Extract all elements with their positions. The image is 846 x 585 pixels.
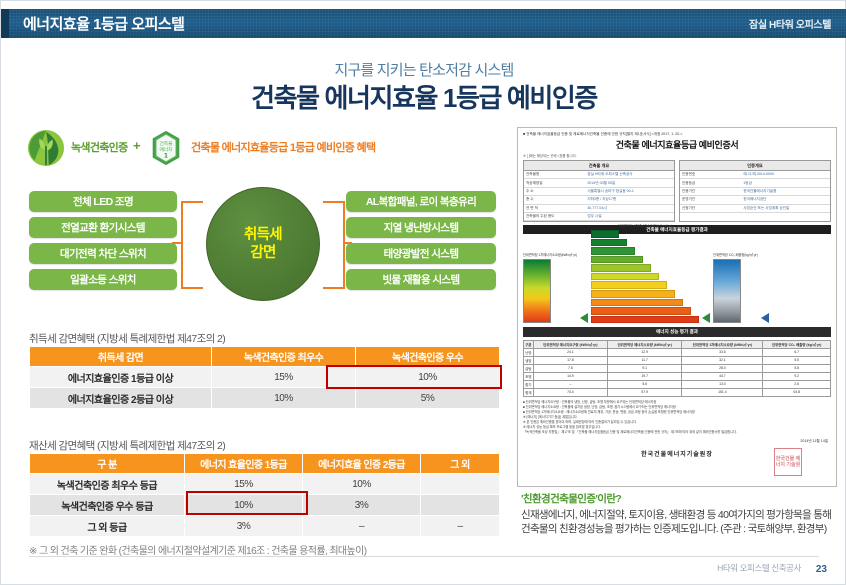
benefit-left-2: 전열교환 환기시스템 xyxy=(29,217,177,238)
cert-performance-band: 에너지 성능 평가 결과 xyxy=(523,327,831,336)
cert-c1-v: 1등급 xyxy=(743,181,828,186)
circle-line-1: 취득세 xyxy=(244,226,282,244)
table1-caption: 취득세 감면혜택 (지방세 특례제한법 제47조의 2) xyxy=(29,331,225,346)
list-item: 운영기관한국에너지공단 xyxy=(680,196,830,204)
cert-r5c1: 74.4 xyxy=(533,388,607,396)
table2-col-2: 에너지효율 인증 2등급 xyxy=(303,454,421,474)
table1-r0-c1: 15% xyxy=(212,367,356,388)
cert-r3c2: 19.7 xyxy=(608,372,682,380)
cert-data-table: 구분 단위면적당 에너지요구량 (kWh/㎡·yr) 단위면적당 에너지소요량 … xyxy=(523,340,831,397)
table2-r2-c3: – xyxy=(421,516,500,537)
table-row: 조명14.919.744.79.2 xyxy=(524,372,831,380)
table1-col-0: 취득세 감면 xyxy=(30,347,212,367)
cert-th-2: 단위면적당 에너지소요량 (kWh/㎡·yr) xyxy=(608,340,682,348)
table2-r0-c1: 15% xyxy=(185,474,303,495)
cert-top-note: ■ 건축물 에너지효율등급 인증 및 제로에너지건축물 인증에 관한 규칙[별지… xyxy=(523,132,831,137)
cert-b4-k: 연 면 적 xyxy=(526,206,587,211)
cert-building-heading: 건축물 개요 xyxy=(524,161,674,171)
cert-r0c1: 24.1 xyxy=(533,348,607,356)
cert-r2c1: 7.6 xyxy=(533,364,607,372)
slide-root: 에너지효율 1등급 오피스텔 잠실 H타워 오피스텔 지구를 지키는 탄소저감 … xyxy=(0,0,846,585)
benefit-right-2: 지열 냉난방시스템 xyxy=(346,217,496,238)
cert-b1-v: 2014년 00월 00일 xyxy=(587,181,672,186)
cert-b3-v: 지하3층 / 지상17층 xyxy=(587,197,672,202)
gauge-1-pointer-icon xyxy=(580,313,588,323)
list-item: 건축물명잠실 H타워 오피스텔 신축공사 xyxy=(524,171,674,179)
cert-c1-k: 인증등급 xyxy=(682,181,743,186)
table-row: 급탕7.69.128.05.8 xyxy=(524,364,831,372)
cert-r0c3: 33.6 xyxy=(682,348,763,356)
cert-r4c1: – xyxy=(533,380,607,388)
table2-r2-c2: – xyxy=(303,516,421,537)
table1-r1-c2: 5% xyxy=(356,388,500,409)
cert-c4-k: 신청기관 xyxy=(682,206,743,211)
list-item: 인증등급1등급 xyxy=(680,179,830,187)
table1-col-2: 녹색건축인증 우수 xyxy=(356,347,500,367)
cert-r1c0: 냉방 xyxy=(524,356,534,364)
benefit-right-3: 태양광발전 시스템 xyxy=(346,243,496,264)
cert-r4c4: 2.6 xyxy=(763,380,831,388)
cert-r5c2: 57.9 xyxy=(608,388,682,396)
cert-b4-v: 40,777.04㎡ xyxy=(587,206,672,211)
list-item: 연 면 적40,777.04㎡ xyxy=(524,205,674,213)
table-row: 그 외 등급 3% – – xyxy=(30,516,500,537)
benefit-right-4: 빗물 재활용 시스템 xyxy=(346,269,496,290)
gauge-3-caption: 단위면적당 CO₂ 배출량(kg/㎡·yr) xyxy=(713,253,758,257)
cert-c3-v: 한국에너지공단 xyxy=(743,197,828,202)
gauge-3-bar xyxy=(713,259,741,323)
table2-header-row: 구 분 에너지 효율인증 1등급 에너지효율 인증 2등급 그 외 xyxy=(30,454,500,474)
cert-certification-panel: 인증개요 인증번호예-사-예-2014-0000 인증등급1등급 인증기관한국건… xyxy=(679,160,831,222)
cert-b3-k: 층 수 xyxy=(526,197,587,202)
table1-r1-c1: 10% xyxy=(212,388,356,409)
green-leaf-circle-icon xyxy=(27,129,65,167)
table2-r2-c1: 3% xyxy=(185,516,303,537)
table1-r0-c2: 10% xyxy=(356,367,500,388)
list-item: 층 수지하3층 / 지상17층 xyxy=(524,196,674,204)
cert-c4-v: 사업승인 또는 사업계획 승인일 xyxy=(743,206,828,211)
cert-b2-v: 서울특별시 송파구 잠실동 00-1 xyxy=(587,189,672,194)
table-row: 녹색건축인증 우수 등급 10% 3% xyxy=(30,495,500,516)
cert-r4c2: 5.6 xyxy=(608,380,682,388)
table2-col-0: 구 분 xyxy=(30,454,185,474)
cert-r5c3: 151.4 xyxy=(682,388,763,396)
header-left-accent xyxy=(1,9,9,38)
cert-r5c4: 04.8 xyxy=(763,388,831,396)
list-item: 주 소서울특별시 송파구 잠실동 00-1 xyxy=(524,188,674,196)
acquisition-tax-circle: 취득세 감면 xyxy=(206,187,320,301)
official-seal-icon: 한국건물 에너지 기술원 xyxy=(774,448,802,476)
gauge-1-bar xyxy=(523,259,551,323)
table2-caption: 재산세 감면혜택 (지방세 특례제한법 제47조의 2) xyxy=(29,438,225,453)
gauge-1: 단위면적당 1차에너지소요량(kWh/㎡·yr) xyxy=(523,253,577,323)
cert-cert-heading: 인증개요 xyxy=(680,161,830,171)
acquisition-tax-table: 취득세 감면 녹색건축인증 최우수 녹색건축인증 우수 에너지효율인증 1등급 … xyxy=(29,346,500,409)
benefit-left-3: 대기전력 차단 스위치 xyxy=(29,243,177,264)
cert-b5-k: 건축물의 주된 용도 xyxy=(526,214,587,219)
cert-b2-k: 주 소 xyxy=(526,189,587,194)
gauge-2-pyramid xyxy=(591,230,699,324)
table2-r1-c0: 녹색건축인증 우수 등급 xyxy=(30,495,185,516)
cert-c3-k: 운영기관 xyxy=(682,197,743,202)
table2-r0-c0: 녹색건축인증 최우수 등급 xyxy=(30,474,185,495)
cert-r3c1: 14.9 xyxy=(533,372,607,380)
cert-r2c2: 9.1 xyxy=(608,364,682,372)
table2-col-1: 에너지 효율인증 1등급 xyxy=(185,454,303,474)
table2-r1-c2: 3% xyxy=(303,495,421,516)
table-row: 냉방17.811.732.15.5 xyxy=(524,356,831,364)
bracket-left-tick xyxy=(172,242,181,244)
table1-col-1: 녹색건축인증 최우수 xyxy=(212,347,356,367)
cert-th-0: 구분 xyxy=(524,340,534,348)
table1-header-row: 취득세 감면 녹색건축인증 최우수 녹색건축인증 우수 xyxy=(30,347,500,367)
property-tax-table: 구 분 에너지 효율인증 1등급 에너지효율 인증 2등급 그 외 녹색건축인증… xyxy=(29,453,500,537)
table1-r0-c0: 에너지효율인증 1등급 이상 xyxy=(30,367,212,388)
footer-divider xyxy=(29,556,819,557)
cert-th-1: 단위면적당 에너지요구량 (kWh/㎡·yr) xyxy=(533,340,607,348)
table-row: 합계74.457.9151.404.8 xyxy=(524,388,831,396)
gauge-2: 단위면적당 1차에너지소요량(kWh/㎡·yr) xyxy=(591,224,699,324)
cert-c0-k: 인증번호 xyxy=(682,172,743,177)
energy-grade-benefit-label: 건축물 에너지효율등급 1등급 예비인증 혜택 xyxy=(191,139,375,155)
cert-th-3: 단위면적당 1차에너지소요량 (kWh/㎡·yr) xyxy=(682,340,763,348)
slide-subtitle: 지구를 지키는 탄소저감 시스템 xyxy=(1,59,846,80)
table2-r2-c0: 그 외 등급 xyxy=(30,516,185,537)
benefit-left-4: 일괄소등 스위치 xyxy=(29,269,177,290)
benefit-right-1: AL복합패널, 로이 복층유리 xyxy=(346,191,496,212)
cert-building-panel: 건축물 개요 건축물명잠실 H타워 오피스텔 신축공사 착공예정일2014년 0… xyxy=(523,160,675,222)
slide-main-title: 건축물 에너지효율 1등급 예비인증 xyxy=(1,78,846,115)
cert-table-header-row: 구분 단위면적당 에너지요구량 (kWh/㎡·yr) 단위면적당 에너지소요량 … xyxy=(524,340,831,348)
header-project-label: 잠실 H타워 오피스텔 xyxy=(749,16,831,31)
plus-sign: + xyxy=(133,138,141,153)
cert-title: 건축물 에너지효율등급 예비인증서 xyxy=(518,138,836,151)
benefit-left-1: 전체 LED 조명 xyxy=(29,191,177,212)
green-building-cert-label: 녹색건축인증 xyxy=(71,139,128,155)
cert-r0c0: 난방 xyxy=(524,348,534,356)
certification-logo-row: 녹색건축인증 + 건축물 에너지 1 건축물 에너지효율등급 1등급 예비인증 … xyxy=(27,127,447,169)
cert-r4c3: 13.0 xyxy=(682,380,763,388)
footnote-text: ※ 그 외 건축 기준 완화 (건축물의 에너지절약설계기준 제16조 : 건축… xyxy=(29,542,366,557)
green-building-explainer: '친환경건축물인증'이란? 신재생에너지, 에너지절약, 토지이용, 생태환경 … xyxy=(521,491,841,536)
footer-project-name: H타워 오피스텔 신축공사 xyxy=(717,562,801,574)
cert-sub-note: ※ [ ]에는 해당되는 곳에 √표를 합니다. xyxy=(523,153,831,158)
cert-r1c4: 5.5 xyxy=(763,356,831,364)
cert-b0-k: 건축물명 xyxy=(526,172,587,177)
cert-r0c2: 12.9 xyxy=(608,348,682,356)
cert-r3c4: 9.2 xyxy=(763,372,831,380)
cert-c2-v: 한국건물에너지기술원 xyxy=(743,189,828,194)
table2-r1-c3 xyxy=(421,495,500,516)
explainer-body: 신재생에너지, 에너지절약, 토지이용, 생태환경 등 40여가지의 평가항목을… xyxy=(521,508,841,536)
page-number: 23 xyxy=(816,564,827,575)
energy-certificate-document: ■ 건축물 에너지효율등급 인증 및 제로에너지건축물 인증에 관한 규칙[별지… xyxy=(517,127,837,487)
cert-r3c0: 조명 xyxy=(524,372,534,380)
bracket-right-tick xyxy=(343,242,352,244)
cert-th-4: 단위면적당 CO₂ 배출량 (kg/㎡·yr) xyxy=(763,340,831,348)
energy-grade-badge-icon: 건축물 에너지 1 xyxy=(147,129,185,167)
list-item: 신청기관사업승인 또는 사업계획 승인일 xyxy=(680,205,830,213)
list-item: 인증기관한국건물에너지기술원 xyxy=(680,188,830,196)
cert-r4c0: 환기 xyxy=(524,380,534,388)
table-row: 에너지효율인증 2등급 이상 10% 5% xyxy=(30,388,500,409)
table-row: 에너지효율인증 1등급 이상 15% 10% xyxy=(30,367,500,388)
cert-r1c2: 11.7 xyxy=(608,356,682,364)
cert-r1c3: 32.1 xyxy=(682,356,763,364)
cert-info-columns: 건축물 개요 건축물명잠실 H타워 오피스텔 신축공사 착공예정일2014년 0… xyxy=(523,160,831,222)
bracket-right xyxy=(323,201,345,289)
cert-c2-k: 인증기관 xyxy=(682,189,743,194)
cert-r2c3: 28.0 xyxy=(682,364,763,372)
table2-r1-c1: 10% xyxy=(185,495,303,516)
svg-text:1: 1 xyxy=(164,153,168,160)
cert-r1c1: 17.8 xyxy=(533,356,607,364)
cert-legal-3: 「녹색건축물 조성 지원법」 제17조 및 「건축물 에너지효율등급 인증 및 … xyxy=(523,430,831,435)
cert-b5-v: 업무 시설 xyxy=(587,214,672,219)
list-item: 건축물의 주된 용도업무 시설 xyxy=(524,213,674,221)
table-row: 녹색건축인증 최우수 등급 15% 10% xyxy=(30,474,500,495)
list-item: 인증번호예-사-예-2014-0000 xyxy=(680,171,830,179)
gauge-3: 단위면적당 CO₂ 배출량(kg/㎡·yr) xyxy=(713,253,758,323)
cert-r5c0: 합계 xyxy=(524,388,534,396)
table-row: 환기–5.613.02.6 xyxy=(524,380,831,388)
cert-b0-v: 잠실 H타워 오피스텔 신축공사 xyxy=(587,172,672,177)
cert-b1-k: 착공예정일 xyxy=(526,181,587,186)
bracket-left xyxy=(181,201,203,289)
circle-line-2: 감면 xyxy=(250,244,275,262)
table2-col-3: 그 외 xyxy=(421,454,500,474)
gauge-3-pointer-icon xyxy=(761,313,769,323)
table1-r1-c0: 에너지효율인증 2등급 이상 xyxy=(30,388,212,409)
explainer-heading: '친환경건축물인증'이란? xyxy=(521,491,841,506)
table2-r0-c3 xyxy=(421,474,500,495)
cert-r0c4: 6.7 xyxy=(763,348,831,356)
table2-r0-c2: 10% xyxy=(303,474,421,495)
cert-issue-date: 2014년 11월 14일 xyxy=(518,439,828,444)
gauge-2-pointer-icon xyxy=(702,313,710,323)
cert-c0-v: 예-사-예-2014-0000 xyxy=(743,172,828,177)
cert-r3c3: 44.7 xyxy=(682,372,763,380)
cert-grade-gauges: 단위면적당 1차에너지소요량(kWh/㎡·yr) 단위면적당 1차에너지소요량(… xyxy=(523,237,831,323)
cert-r2c4: 5.8 xyxy=(763,364,831,372)
gauge-2-caption: 단위면적당 1차에너지소요량(kWh/㎡·yr) xyxy=(591,224,699,228)
gauge-1-caption: 단위면적당 1차에너지소요량(kWh/㎡·yr) xyxy=(523,253,577,257)
list-item: 착공예정일2014년 00월 00일 xyxy=(524,179,674,187)
cert-footnotes: ■ 단위면적당 에너지요구량 : 건축물의 냉방, 난방, 급탕, 조명 부문에… xyxy=(523,400,831,435)
table-row: 난방24.112.933.66.7 xyxy=(524,348,831,356)
header-title: 에너지효율 1등급 오피스텔 xyxy=(23,13,184,34)
cert-r2c0: 급탕 xyxy=(524,364,534,372)
